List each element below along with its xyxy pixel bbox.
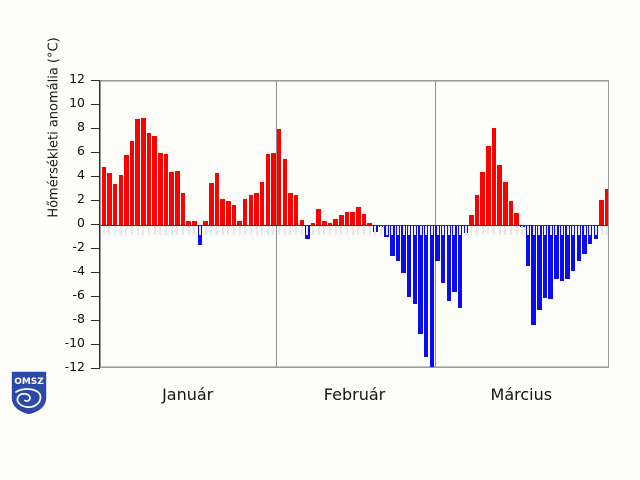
omsz-logo: OMSZ	[8, 368, 50, 416]
bar	[548, 225, 553, 299]
bar	[362, 214, 367, 225]
day-tick	[142, 226, 144, 235]
day-tick	[159, 226, 161, 235]
day-tick	[403, 226, 405, 235]
month-divider	[435, 81, 436, 367]
y-axis-tick-label: -6	[40, 289, 85, 302]
bar	[430, 225, 435, 367]
bar	[356, 207, 361, 225]
bar	[503, 182, 508, 225]
bar	[226, 201, 231, 225]
day-tick	[272, 226, 274, 235]
day-tick	[301, 226, 303, 235]
day-tick	[561, 226, 563, 235]
day-tick	[250, 226, 252, 235]
bar	[277, 129, 282, 225]
day-tick	[499, 226, 501, 235]
bar	[492, 128, 497, 225]
bar	[249, 195, 254, 225]
day-tick	[131, 226, 133, 235]
day-tick	[176, 226, 178, 235]
day-tick	[289, 226, 291, 235]
bar	[294, 195, 299, 225]
bar	[266, 154, 271, 225]
day-tick	[482, 226, 484, 235]
day-tick	[538, 226, 540, 235]
day-tick	[114, 226, 116, 235]
day-tick	[533, 226, 535, 235]
day-tick	[199, 226, 201, 235]
bar	[169, 172, 174, 225]
bar	[486, 146, 491, 225]
y-axis-tick-label: -2	[40, 241, 85, 254]
bar	[147, 133, 152, 225]
y-axis-tick-label: 12	[40, 73, 85, 86]
day-tick	[239, 226, 241, 235]
day-tick	[267, 226, 269, 235]
day-tick	[295, 226, 297, 235]
y-axis-tick-label: -8	[40, 313, 85, 326]
day-tick	[493, 226, 495, 235]
day-tick	[188, 226, 190, 235]
bar	[181, 193, 186, 225]
y-axis-tick-label: 10	[40, 97, 85, 110]
day-tick	[148, 226, 150, 235]
bar	[175, 171, 180, 225]
y-axis-tick-label: -4	[40, 265, 85, 278]
day-tick	[420, 226, 422, 235]
day-tick	[408, 226, 410, 235]
day-tick	[550, 226, 552, 235]
bar	[339, 215, 344, 225]
day-tick	[340, 226, 342, 235]
bar	[497, 165, 502, 225]
day-tick	[431, 226, 433, 235]
day-tick	[606, 226, 608, 235]
day-tick	[572, 226, 574, 235]
day-tick	[442, 226, 444, 235]
day-tick-marks	[101, 226, 608, 236]
day-tick	[584, 226, 586, 235]
day-tick	[459, 226, 461, 235]
day-tick	[205, 226, 207, 235]
bar	[469, 215, 474, 225]
day-tick	[346, 226, 348, 235]
bar	[288, 193, 293, 225]
day-tick	[216, 226, 218, 235]
bar	[260, 182, 265, 225]
bar	[152, 136, 157, 225]
day-tick	[284, 226, 286, 235]
bar	[271, 153, 276, 225]
day-tick	[437, 226, 439, 235]
day-tick	[453, 226, 455, 235]
day-tick	[476, 226, 478, 235]
day-tick	[244, 226, 246, 235]
bar	[141, 118, 146, 225]
day-tick	[182, 226, 184, 235]
day-tick	[425, 226, 427, 235]
day-tick	[470, 226, 472, 235]
y-axis-tick-label: 4	[40, 169, 85, 182]
bar	[102, 167, 107, 225]
y-axis-tick-label: -10	[40, 337, 85, 350]
bar	[418, 225, 423, 334]
day-tick	[414, 226, 416, 235]
day-tick	[465, 226, 467, 235]
day-tick	[601, 226, 603, 235]
y-axis-tick-label: 2	[40, 193, 85, 206]
y-axis-tick-label: 0	[40, 217, 85, 230]
y-axis-tick	[91, 368, 100, 369]
day-tick	[312, 226, 314, 235]
bar	[130, 141, 135, 225]
day-tick	[521, 226, 523, 235]
day-tick	[233, 226, 235, 235]
bar	[316, 209, 321, 225]
bar	[424, 225, 429, 357]
bar	[119, 175, 124, 225]
day-tick	[278, 226, 280, 235]
day-tick	[527, 226, 529, 235]
day-tick	[544, 226, 546, 235]
day-tick	[357, 226, 359, 235]
day-tick	[595, 226, 597, 235]
bar	[220, 199, 225, 225]
bar	[350, 212, 355, 225]
day-tick	[329, 226, 331, 235]
day-tick	[567, 226, 569, 235]
bar	[124, 155, 129, 225]
day-tick	[487, 226, 489, 235]
day-tick	[125, 226, 127, 235]
day-tick	[318, 226, 320, 235]
bar	[599, 200, 604, 225]
bar	[413, 225, 418, 304]
plot-top-gridline	[101, 81, 608, 82]
day-tick	[154, 226, 156, 235]
day-tick	[555, 226, 557, 235]
bar	[113, 184, 118, 225]
day-tick	[504, 226, 506, 235]
day-tick	[363, 226, 365, 235]
day-tick	[397, 226, 399, 235]
day-tick	[380, 226, 382, 235]
month-label-1: Január	[118, 385, 258, 404]
bar	[514, 213, 519, 225]
bar	[605, 189, 609, 225]
y-axis-tick-label: 6	[40, 145, 85, 158]
zero-axis-line	[101, 225, 608, 226]
day-tick	[578, 226, 580, 235]
bar	[475, 195, 480, 225]
day-tick	[335, 226, 337, 235]
day-tick	[369, 226, 371, 235]
bar	[243, 199, 248, 225]
svg-text:OMSZ: OMSZ	[14, 377, 44, 387]
month-label-2: Február	[285, 385, 425, 404]
bar	[107, 173, 112, 225]
day-tick	[120, 226, 122, 235]
bar	[164, 154, 169, 225]
bar	[283, 159, 288, 225]
day-tick	[589, 226, 591, 235]
plot-area	[100, 80, 609, 368]
day-tick	[352, 226, 354, 235]
day-tick	[256, 226, 258, 235]
bar	[509, 201, 514, 225]
y-axis-tick-label: 8	[40, 121, 85, 134]
bar	[158, 153, 163, 225]
day-tick	[108, 226, 110, 235]
day-tick	[171, 226, 173, 235]
bar	[447, 225, 452, 301]
day-tick	[261, 226, 263, 235]
day-tick	[306, 226, 308, 235]
bar	[537, 225, 542, 310]
bar	[345, 212, 350, 225]
day-tick	[210, 226, 212, 235]
bar	[480, 172, 485, 225]
chart-canvas: Hőmérsékleti anomália (°C) 121086420-2-4…	[0, 0, 640, 480]
day-tick	[137, 226, 139, 235]
day-tick	[227, 226, 229, 235]
bar	[232, 205, 237, 225]
day-tick	[374, 226, 376, 235]
bar	[458, 225, 463, 308]
day-tick	[193, 226, 195, 235]
day-tick	[391, 226, 393, 235]
bar	[531, 225, 536, 325]
bar	[254, 193, 259, 225]
plot-bottom-gridline	[101, 366, 608, 367]
day-tick	[222, 226, 224, 235]
y-axis-title: Hőmérsékleti anomália (°C)	[47, 0, 62, 278]
month-label-3: Március	[451, 385, 591, 404]
bar	[209, 183, 214, 225]
day-tick	[103, 226, 105, 235]
bar	[215, 173, 220, 225]
day-tick	[516, 226, 518, 235]
day-tick	[448, 226, 450, 235]
day-tick	[510, 226, 512, 235]
bar	[135, 119, 140, 225]
day-tick	[323, 226, 325, 235]
day-tick	[165, 226, 167, 235]
day-tick	[386, 226, 388, 235]
